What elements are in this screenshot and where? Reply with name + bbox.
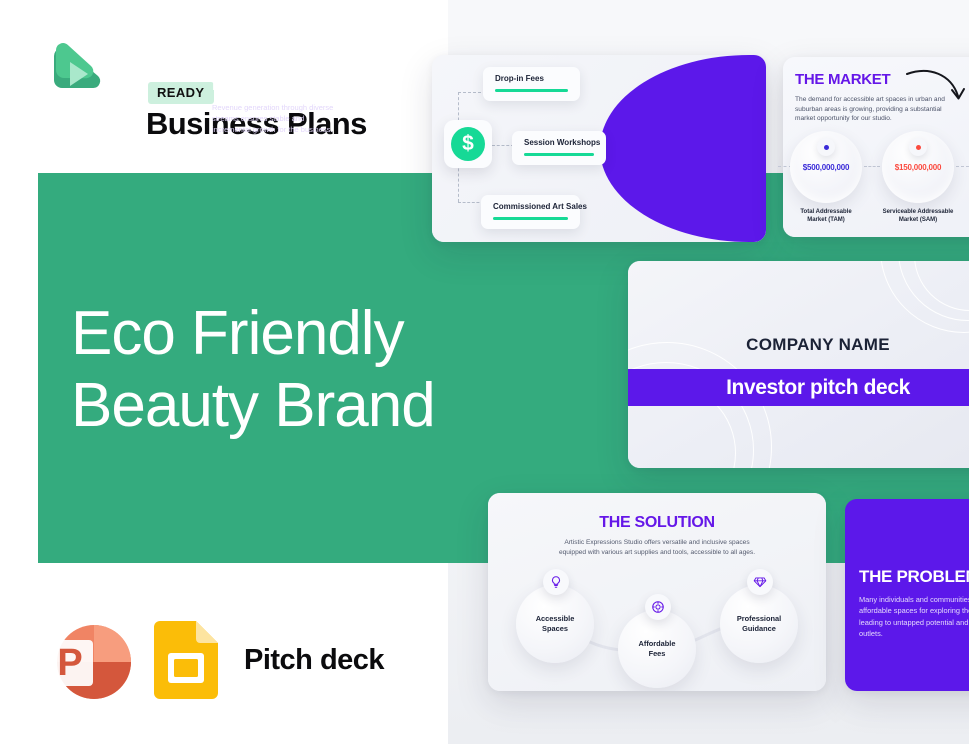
bm-node-label: Session Workshops — [524, 138, 594, 147]
dollar-icon: $ — [451, 127, 485, 161]
company-name: COMPANY NAME — [628, 335, 969, 355]
google-slides-icon — [154, 621, 218, 699]
powerpoint-icon: P — [42, 618, 134, 702]
slide-the-solution[interactable]: THE SOLUTION Artistic Expressions Studio… — [488, 493, 826, 691]
market-value-sam: $150,000,000 — [882, 163, 954, 172]
market-caption-sam: Serviceable Addressable Market (SAM) — [870, 208, 966, 224]
market-description: The demand for accessible art spaces in … — [795, 95, 945, 124]
market-dot-badge-sam — [909, 138, 927, 156]
investor-pitch-band: Investor pitch deck — [628, 369, 969, 406]
bm-connector-top — [458, 92, 486, 93]
solution-title: THE SOLUTION — [488, 514, 826, 532]
solution-item-accessible-spaces[interactable]: Accessible Spaces — [516, 585, 594, 663]
market-dot-badge-tam — [817, 138, 835, 156]
market-dot-tam — [824, 145, 829, 150]
bm-node-underline — [493, 217, 568, 220]
business-model-currency-badge: $ — [444, 120, 492, 168]
target-icon — [645, 594, 671, 620]
bm-node-underline — [495, 89, 568, 92]
market-value-tam: $500,000,000 — [790, 163, 862, 172]
slide-the-problem[interactable]: THE PROBLEM Many individuals and communi… — [845, 499, 969, 691]
slide-investor-pitch-deck[interactable]: COMPANY NAME Investor pitch deck — [628, 261, 969, 468]
problem-title: THE PROBLEM — [859, 567, 969, 587]
svg-text:P: P — [57, 642, 82, 684]
business-model-title: BUSINESS MODEL — [212, 56, 340, 94]
bm-connector-mid — [492, 145, 514, 146]
ready-badge: READY — [148, 82, 214, 104]
bm-node-drop-in-fees[interactable]: Drop-in Fees — [483, 67, 580, 101]
market-title: THE MARKET — [795, 71, 890, 88]
market-connector-mid — [864, 166, 880, 167]
investor-pitch-label: Investor pitch deck — [726, 376, 910, 400]
diamond-icon — [747, 569, 773, 595]
solution-item-label: Professional Guidance — [737, 614, 781, 634]
market-connector-right — [956, 166, 969, 167]
bm-node-label: Commissioned Art Sales — [493, 202, 568, 211]
format-label: Pitch deck — [244, 644, 384, 677]
solution-item-affordable-fees[interactable]: Affordable Fees — [618, 610, 696, 688]
solution-item-professional-guidance[interactable]: Professional Guidance — [720, 585, 798, 663]
market-dot-sam — [916, 145, 921, 150]
solution-description: Artistic Expressions Studio offers versa… — [558, 538, 756, 558]
bm-node-commissioned-art-sales[interactable]: Commissioned Art Sales — [481, 195, 580, 229]
poster-canvas: READY Business Plans Eco Friendly Beauty… — [0, 0, 969, 744]
problem-description: Many individuals and communities lack ac… — [859, 594, 969, 640]
business-model-description: Revenue generation through diverse strea… — [212, 102, 334, 135]
market-caption-tam: Total Addressable Market (TAM) — [778, 208, 874, 224]
bm-node-session-workshops[interactable]: Session Workshops — [512, 131, 606, 165]
solution-item-label: Affordable Fees — [639, 639, 676, 659]
lightbulb-icon — [543, 569, 569, 595]
format-row: P Pitch deck — [42, 618, 384, 702]
bm-node-label: Drop-in Fees — [495, 74, 568, 83]
bm-node-underline — [524, 153, 594, 156]
page-title: Eco Friendly Beauty Brand — [71, 298, 435, 442]
solution-item-label: Accessible Spaces — [536, 614, 575, 634]
play-triangle-logo-icon — [40, 36, 112, 108]
